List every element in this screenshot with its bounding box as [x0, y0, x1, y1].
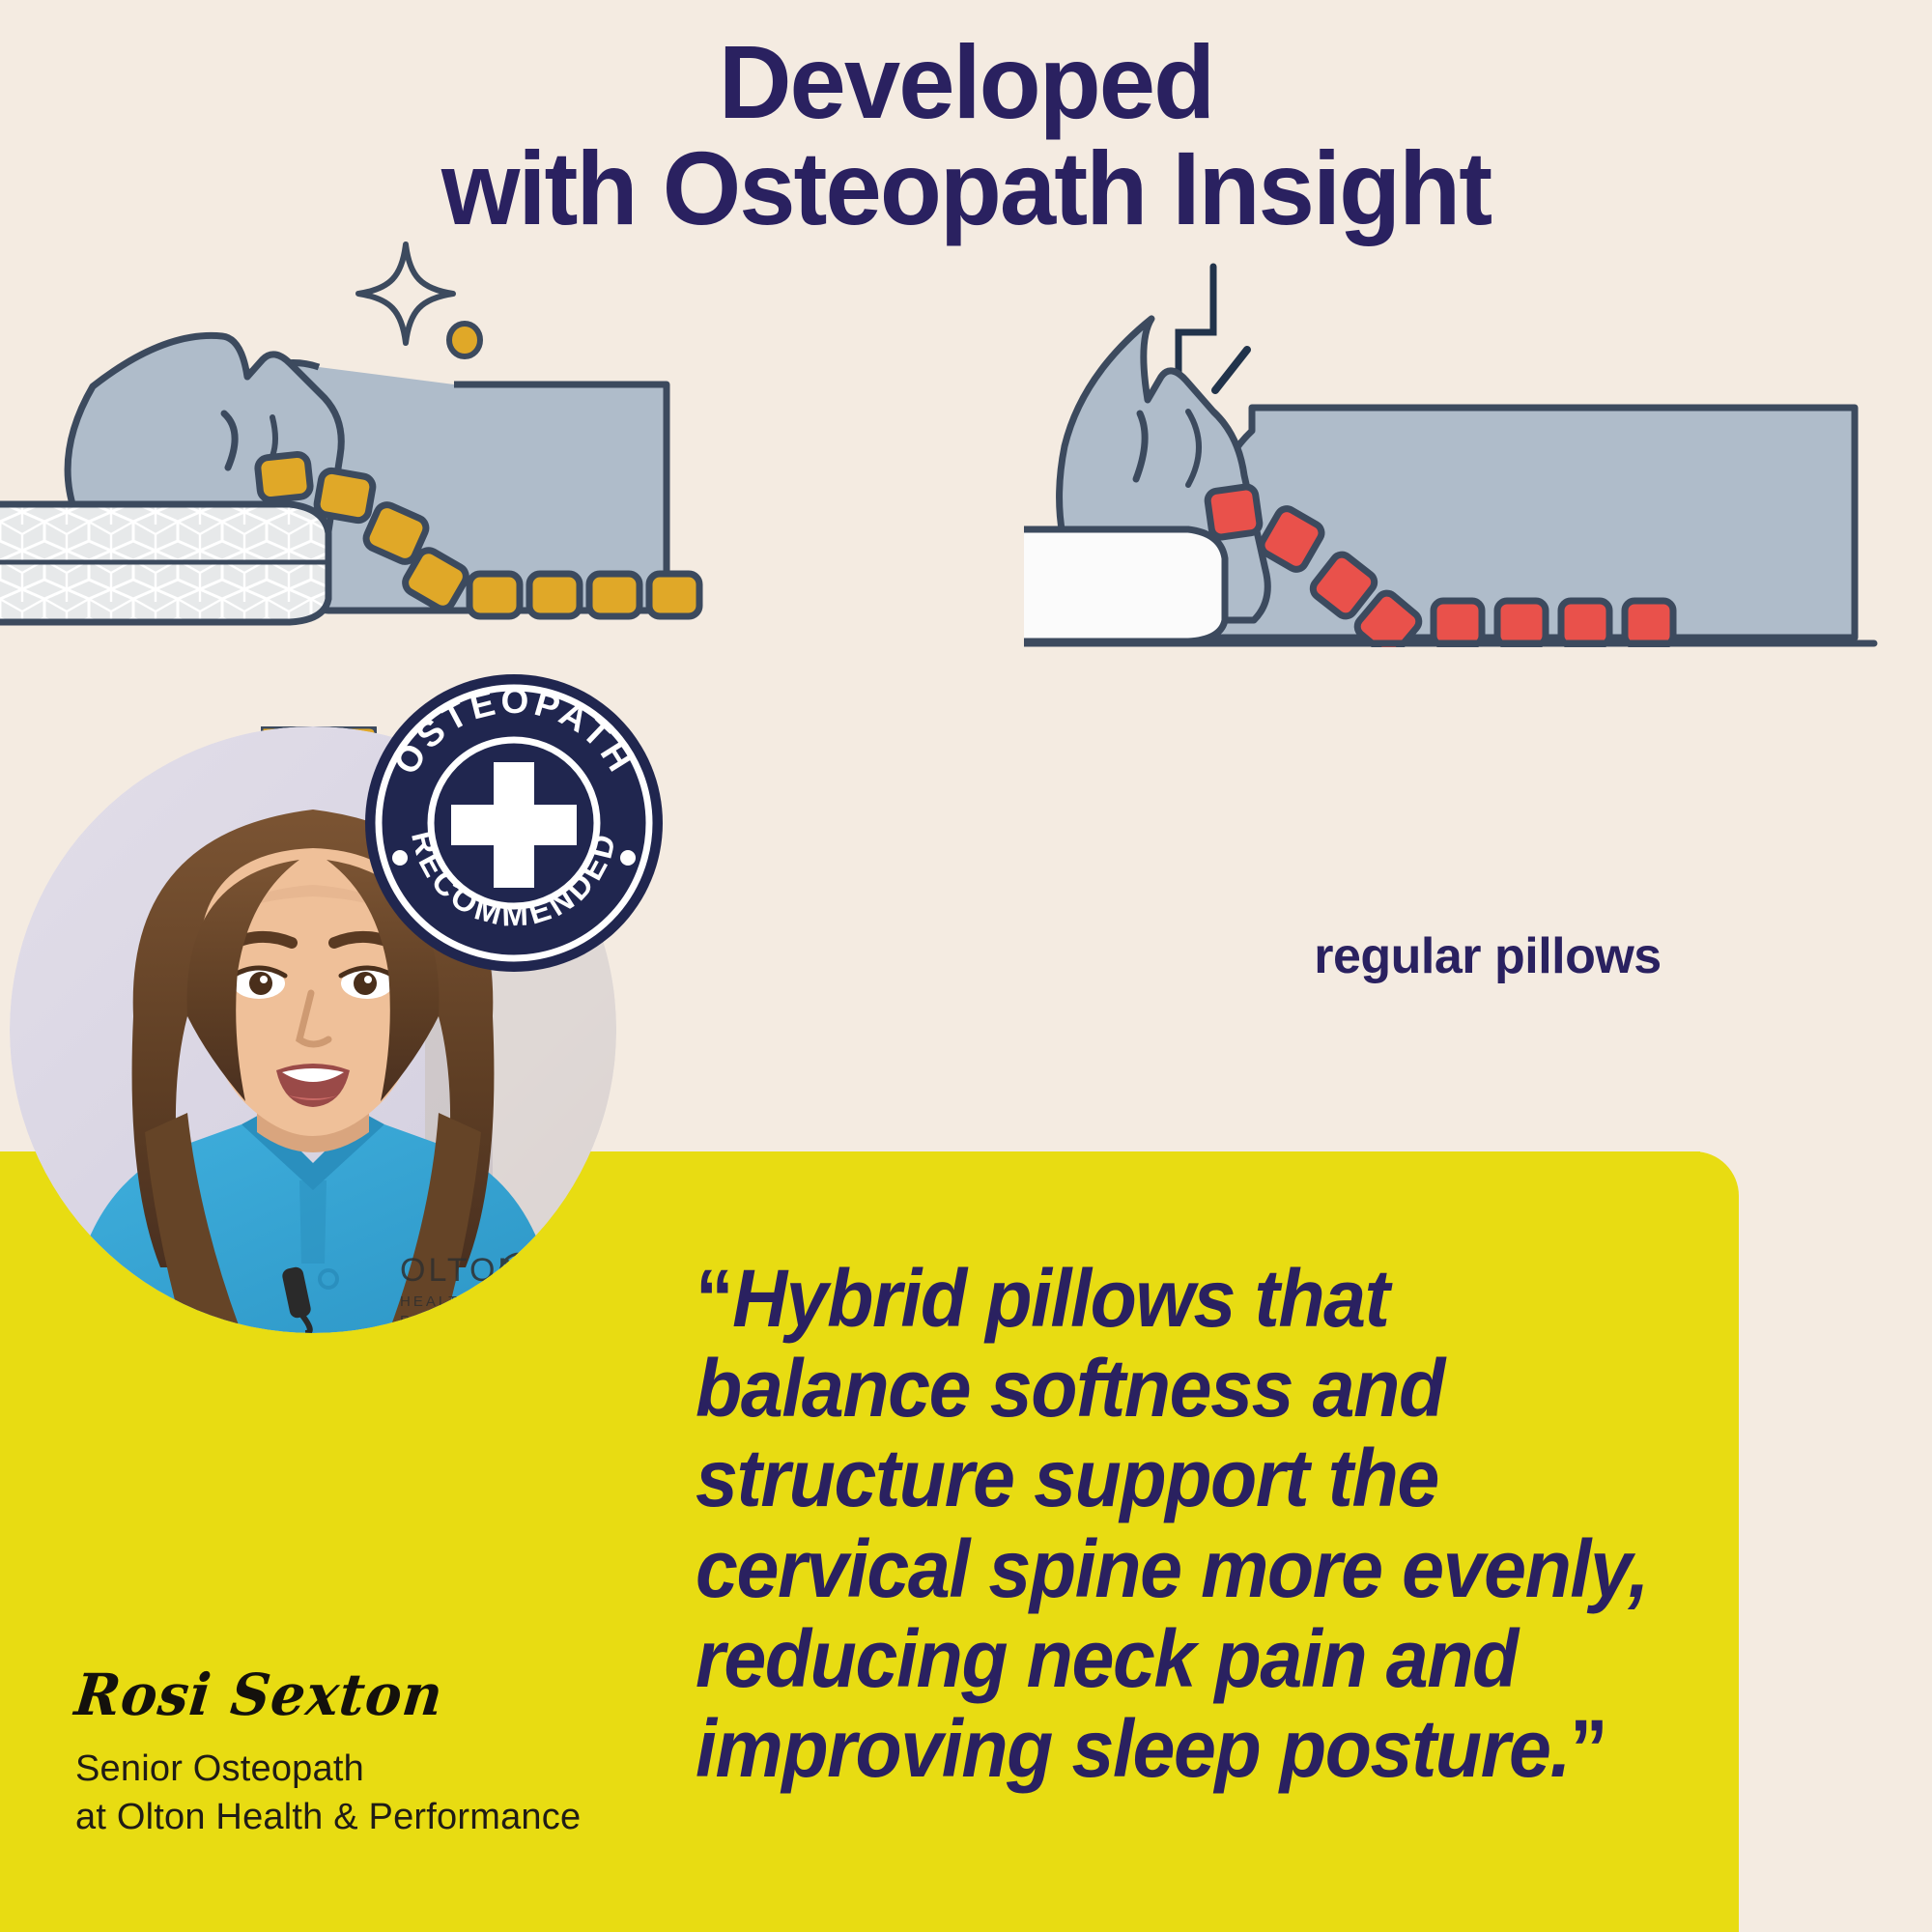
- title-line-2: with Osteopath Insight: [29, 135, 1903, 241]
- page-title: Developed with Osteopath Insight: [29, 29, 1903, 241]
- sparkle-icon: [358, 244, 453, 343]
- quote-line-5: reducing neck pain and: [696, 1613, 1518, 1704]
- title-line-1: Developed: [719, 23, 1213, 140]
- open-quote-mark: “: [696, 1253, 732, 1344]
- quote-line-4: cervical spine more evenly,: [696, 1523, 1648, 1614]
- dot-separator-icon: [620, 850, 636, 866]
- quote-line-2: balance softness and: [696, 1343, 1444, 1434]
- dot-separator-icon: [392, 850, 408, 866]
- illustration-bad-posture: [1024, 261, 1932, 647]
- regular-pillow: [1024, 529, 1225, 641]
- osteopath-recommended-badge: OSTEOPATH RECOMMENDED: [359, 668, 668, 978]
- testimonial-quote: “Hybrid pillows that balance softness an…: [696, 1254, 1812, 1794]
- quote-line-1: Hybrid pillows that: [732, 1253, 1389, 1344]
- author-role-line-2: at Olton Health & Performance: [75, 1793, 674, 1841]
- hybrid-pillow: [0, 504, 328, 622]
- testimonial-attribution: Rosi Sexton Senior Osteopath at Olton He…: [75, 1663, 674, 1841]
- pain-flash-icon: [1179, 267, 1247, 390]
- author-name: Rosi Sexton: [71, 1662, 446, 1729]
- regular-pillows-caption: regular pillows: [1256, 927, 1719, 985]
- dot-icon: [449, 324, 480, 356]
- illustration-good-posture: [0, 241, 734, 647]
- author-role-line-1: Senior Osteopath: [75, 1745, 674, 1793]
- quote-line-6: improving sleep posture.: [696, 1703, 1570, 1794]
- poster-canvas: Developed with Osteopath Insight: [0, 0, 1932, 1932]
- quote-line-3: structure support the: [696, 1433, 1438, 1523]
- close-quote-mark: ”: [1570, 1703, 1606, 1794]
